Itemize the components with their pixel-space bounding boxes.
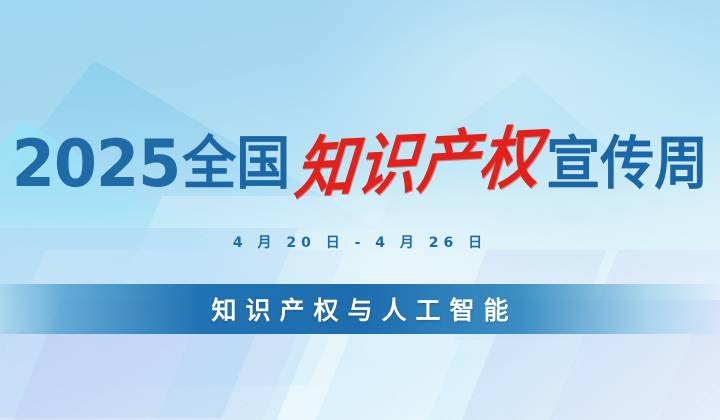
headline-year: 2025 [12, 131, 181, 196]
theme-bar: 知识产权与人工智能 [0, 284, 720, 334]
panel-shape-left-2 [0, 250, 345, 420]
headline-suffix: 宣传周 [546, 135, 708, 192]
headline-calligraphy-ip: 知识产权 [293, 124, 544, 203]
background-decoration [0, 0, 720, 420]
panel-shape-bottom-center [308, 330, 592, 420]
panel-shape-left-4 [0, 330, 192, 420]
headline-scope: 全国 [182, 135, 290, 192]
date-range: 4 月 20 日 - 4 月 26 日 [0, 232, 720, 252]
panel-shape-right-1 [542, 250, 720, 420]
theme-text: 知识产权与人工智能 [202, 291, 517, 327]
ip-week-banner: 2025 全国 知识产权 宣传周 4 月 20 日 - 4 月 26 日 知识产… [0, 0, 720, 420]
headline: 2025 全国 知识产权 宣传周 [0, 126, 720, 202]
